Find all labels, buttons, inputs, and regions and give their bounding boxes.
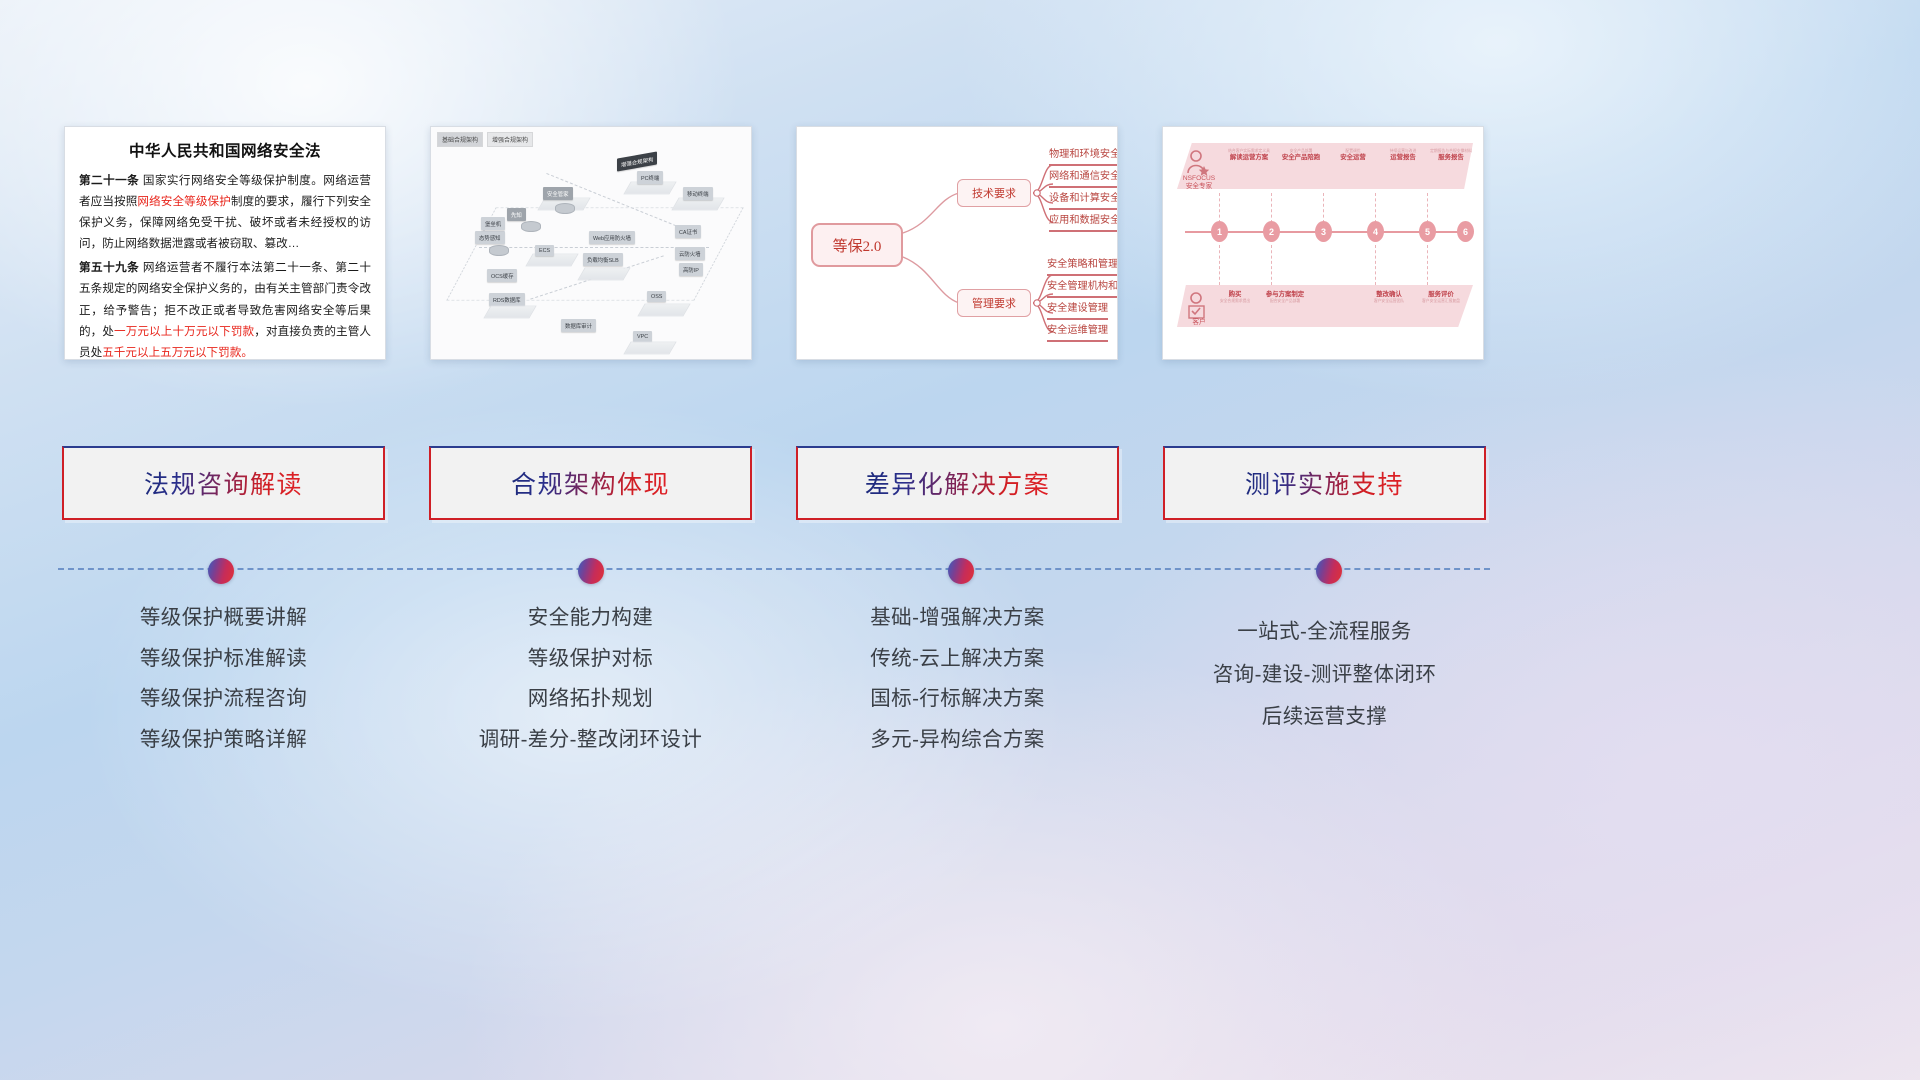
timeline-node-1[interactable] bbox=[208, 558, 234, 584]
law-highlight: 网络安全等级保护 bbox=[137, 195, 230, 208]
timeline-connector bbox=[1219, 193, 1220, 223]
timeline-marker-1: 1 bbox=[1211, 221, 1228, 242]
timeline-node-4[interactable] bbox=[1316, 558, 1342, 584]
arch-node-mobile-terminal: 移动终端 bbox=[683, 187, 713, 200]
section-title-label: 合规架构体现 bbox=[511, 465, 670, 501]
architecture-tabs: 基础合规架构 增强合规架构 bbox=[437, 132, 533, 147]
section-title-box-4[interactable]: 测评实施支持 bbox=[1163, 446, 1486, 520]
mindmap-leaf: 安全运维管理 bbox=[1047, 325, 1108, 342]
section-title-box-2[interactable]: 合规架构体现 bbox=[429, 446, 752, 520]
arch-node-ca-cert: CA证书 bbox=[675, 225, 701, 238]
timeline-step-sub: 配合安全产品部署 bbox=[1259, 299, 1311, 304]
timeline-marker-4: 4 bbox=[1367, 221, 1384, 242]
mindmap-leaf: 物理和环境安全 bbox=[1049, 149, 1118, 166]
timeline-connector bbox=[1219, 245, 1220, 285]
card-nsfocus-service-timeline[interactable]: NSFOCUS 安全专家 结合客户实际需求定义具 解读运营方案 安全产品部署 安… bbox=[1162, 126, 1484, 360]
timeline-expert-role: NSFOCUS 安全专家 bbox=[1177, 175, 1221, 191]
mindmap-leaf: 安全建设管理 bbox=[1047, 303, 1108, 320]
law-article-label-59: 第五十九条 bbox=[79, 261, 139, 274]
timeline-expert-line2: 安全专家 bbox=[1186, 183, 1212, 190]
mindmap-leaf: 安全策略和管理制度 bbox=[1047, 259, 1118, 276]
iso-plate bbox=[637, 304, 690, 317]
card-cybersecurity-law[interactable]: 中华人民共和国网络安全法 第二十一条 国家实行网络安全等级保护制度。网络运营者应… bbox=[64, 126, 386, 360]
mindmap-leaf: 安全管理机构和人员 bbox=[1047, 281, 1118, 298]
list-item: 网络拓扑规划 bbox=[528, 689, 653, 710]
section-title-label: 差异化解决方案 bbox=[865, 465, 1051, 501]
list-item: 国标-行标解决方案 bbox=[870, 689, 1044, 710]
arch-node-cloud-firewall: 云防火墙 bbox=[675, 247, 705, 260]
arch-node-enhanced: 增强合规架构 bbox=[617, 151, 657, 171]
arch-node-oss: OSS bbox=[647, 291, 666, 302]
list-item: 等级保护对标 bbox=[528, 649, 653, 670]
list-item: 一站式-全流程服务 bbox=[1237, 622, 1411, 643]
arch-node-xianzhi: 先知 bbox=[507, 208, 526, 221]
arch-cylinder bbox=[521, 221, 541, 232]
timeline-step-main: 安全产品陪跑 bbox=[1275, 154, 1327, 162]
timeline-connector bbox=[1375, 245, 1376, 285]
mindmap-root: 等保2.0 bbox=[811, 223, 903, 267]
mindmap-leaf: 应用和数据安全 bbox=[1049, 215, 1118, 232]
timeline-step-main: 解读运营方案 bbox=[1223, 154, 1275, 162]
law-highlight: 五千元以上五万元以下罚款。 bbox=[102, 346, 253, 359]
timeline-step-main: 服务报告 bbox=[1425, 154, 1477, 162]
timeline-step-lower-1: 购买 安全合规需求提出 bbox=[1209, 291, 1261, 304]
arch-node-ocs: OCS缓存 bbox=[487, 269, 517, 282]
architecture-diagram: 基础合规架构 增强合规架构 增强合规架构 安全管家 先知 态势感知 堡垒机 数据… bbox=[431, 127, 751, 359]
list-item: 后续运营支撑 bbox=[1262, 707, 1387, 728]
timeline-step-lower-4: 服务评价 客户安全运营汇报复盘 bbox=[1415, 291, 1467, 304]
arch-node-situation-awareness: 态势感知 bbox=[475, 231, 505, 244]
law-title: 中华人民共和国网络安全法 bbox=[79, 139, 371, 161]
arch-node-pc-terminal: PC终端 bbox=[637, 171, 663, 184]
iso-plate bbox=[483, 306, 536, 319]
timeline-step-lower-2: 参与方案制定 配合安全产品部署 bbox=[1259, 291, 1311, 304]
list-item: 等级保护流程咨询 bbox=[140, 689, 307, 710]
timeline-node-2[interactable] bbox=[578, 558, 604, 584]
timeline-connector bbox=[1375, 193, 1376, 223]
section-title-row: 法规咨询解读 合规架构体现 差异化解决方案 测评实施支持 bbox=[62, 446, 1486, 520]
law-document: 中华人民共和国网络安全法 第二十一条 国家实行网络安全等级保护制度。网络运营者应… bbox=[65, 127, 385, 360]
list-item: 基础-增强解决方案 bbox=[870, 608, 1044, 629]
timeline-customer-role: 客户 bbox=[1179, 319, 1219, 327]
list-item: 等级保护策略详解 bbox=[140, 730, 307, 751]
section-items-row: 等级保护概要讲解 等级保护标准解读 等级保护流程咨询 等级保护策略详解 安全能力… bbox=[62, 600, 1486, 770]
timeline-marker-5: 5 bbox=[1419, 221, 1436, 242]
arch-cylinder bbox=[555, 203, 575, 214]
law-highlight: 一万元以上十万元以下罚款 bbox=[114, 325, 254, 338]
list-item: 传统-云上解决方案 bbox=[870, 649, 1044, 670]
arch-node-rds: RDS数据库 bbox=[489, 293, 525, 306]
law-article-label-21: 第二十一条 bbox=[79, 174, 139, 187]
timeline-step-sub: 安全合规需求提出 bbox=[1209, 299, 1261, 304]
timeline-step-sub: 客户安全运营汇报复盘 bbox=[1415, 299, 1467, 304]
mindmap-leaf: 网络和通信安全 bbox=[1049, 171, 1118, 188]
list-item: 咨询-建设-测评整体闭环 bbox=[1213, 665, 1436, 686]
arch-node-ecs: ECS bbox=[535, 245, 554, 256]
section-items-1: 等级保护概要讲解 等级保护标准解读 等级保护流程咨询 等级保护策略详解 bbox=[62, 600, 385, 770]
law-paragraph-21: 第二十一条 国家实行网络安全等级保护制度。网络运营者应当按照网络安全等级保护制度… bbox=[79, 170, 371, 254]
architecture-tab-enhanced[interactable]: 增强合规架构 bbox=[487, 132, 533, 147]
architecture-tab-basic[interactable]: 基础合规架构 bbox=[437, 132, 483, 147]
timeline-connector bbox=[1271, 193, 1272, 223]
iso-plate bbox=[577, 268, 630, 281]
arch-node-bastion: 堡垒机 bbox=[481, 217, 505, 230]
section-title-label: 测评实施支持 bbox=[1245, 465, 1404, 501]
timeline-node-3[interactable] bbox=[948, 558, 974, 584]
law-paragraph-59: 第五十九条 网络运营者不履行本法第二十一条、第二十五条规定的网络安全保护义务的，… bbox=[79, 257, 371, 360]
mindmap-branch-technical: 技术要求 bbox=[957, 179, 1031, 207]
timeline-connector bbox=[1427, 245, 1428, 285]
arch-node-db-audit: 数据库审计 bbox=[561, 319, 596, 332]
timeline-expert-line1: NSFOCUS bbox=[1183, 175, 1215, 182]
card-compliance-architecture[interactable]: 基础合规架构 增强合规架构 增强合规架构 安全管家 先知 态势感知 堡垒机 数据… bbox=[430, 126, 752, 360]
list-item: 安全能力构建 bbox=[528, 608, 653, 629]
mindmap: 等保2.0 技术要求 物理和环境安全 网络和通信安全 设备和计算安全 应用和数据… bbox=[797, 127, 1117, 359]
customer-icon bbox=[1185, 291, 1209, 321]
timeline-marker-2: 2 bbox=[1263, 221, 1280, 242]
list-item: 多元-异构综合方案 bbox=[870, 730, 1044, 751]
arch-node-security-butler: 安全管家 bbox=[543, 187, 573, 200]
list-item: 等级保护概要讲解 bbox=[140, 608, 307, 629]
timeline-step-upper-3: 配置调优 安全运营 bbox=[1327, 149, 1379, 162]
arch-cylinder bbox=[489, 245, 509, 256]
timeline-connector bbox=[1271, 245, 1272, 285]
timeline-step-upper-2: 安全产品部署 安全产品陪跑 bbox=[1275, 149, 1327, 162]
mindmap-branch-management: 管理要求 bbox=[957, 289, 1031, 317]
timeline-step-main: 安全运营 bbox=[1327, 154, 1379, 162]
timeline-step-upper-1: 结合客户实际需求定义具 解读运营方案 bbox=[1223, 149, 1275, 162]
timeline-step-sub: 客户安全运营团队 bbox=[1363, 299, 1415, 304]
timeline-step-main: 运营报告 bbox=[1377, 154, 1429, 162]
mindmap-leaf: 设备和计算安全 bbox=[1049, 193, 1118, 210]
timeline-marker-3: 3 bbox=[1315, 221, 1332, 242]
iso-plate bbox=[623, 342, 676, 355]
section-items-3: 基础-增强解决方案 传统-云上解决方案 国标-行标解决方案 多元-异构综合方案 bbox=[796, 600, 1119, 770]
timeline-step-upper-5: 定期报告与合规支撑材料 服务报告 bbox=[1425, 149, 1477, 162]
arch-node-high-defense-ip: 高防IP bbox=[679, 263, 703, 276]
list-item: 调研-差分-整改闭环设计 bbox=[479, 730, 702, 751]
timeline-connector bbox=[1323, 193, 1324, 223]
card-mindmap-dengbao[interactable]: 等保2.0 技术要求 物理和环境安全 网络和通信安全 设备和计算安全 应用和数据… bbox=[796, 126, 1118, 360]
section-title-box-3[interactable]: 差异化解决方案 bbox=[796, 446, 1119, 520]
timeline-step-lower-3: 整改确认 客户安全运营团队 bbox=[1363, 291, 1415, 304]
section-items-2: 安全能力构建 等级保护对标 网络拓扑规划 调研-差分-整改闭环设计 bbox=[429, 600, 752, 770]
timeline-marker-6: 6 bbox=[1457, 221, 1474, 242]
arch-node-waf: Web应用防火墙 bbox=[589, 231, 635, 244]
section-items-4: 一站式-全流程服务 咨询-建设-测评整体闭环 后续运营支撑 bbox=[1163, 600, 1486, 770]
progress-timeline bbox=[58, 568, 1490, 570]
preview-card-row: 中华人民共和国网络安全法 第二十一条 国家实行网络安全等级保护制度。网络运营者应… bbox=[64, 126, 1484, 360]
section-title-label: 法规咨询解读 bbox=[144, 465, 303, 501]
arch-node-vpc: VPC bbox=[633, 331, 652, 342]
section-title-box-1[interactable]: 法规咨询解读 bbox=[62, 446, 385, 520]
timeline-connector bbox=[1427, 193, 1428, 223]
service-timeline: NSFOCUS 安全专家 结合客户实际需求定义具 解读运营方案 安全产品部署 安… bbox=[1163, 127, 1483, 359]
list-item: 等级保护标准解读 bbox=[140, 649, 307, 670]
arch-node-slb: 负载均衡SLB bbox=[583, 253, 623, 266]
timeline-step-upper-4: 持续运营与改进 运营报告 bbox=[1377, 149, 1429, 162]
